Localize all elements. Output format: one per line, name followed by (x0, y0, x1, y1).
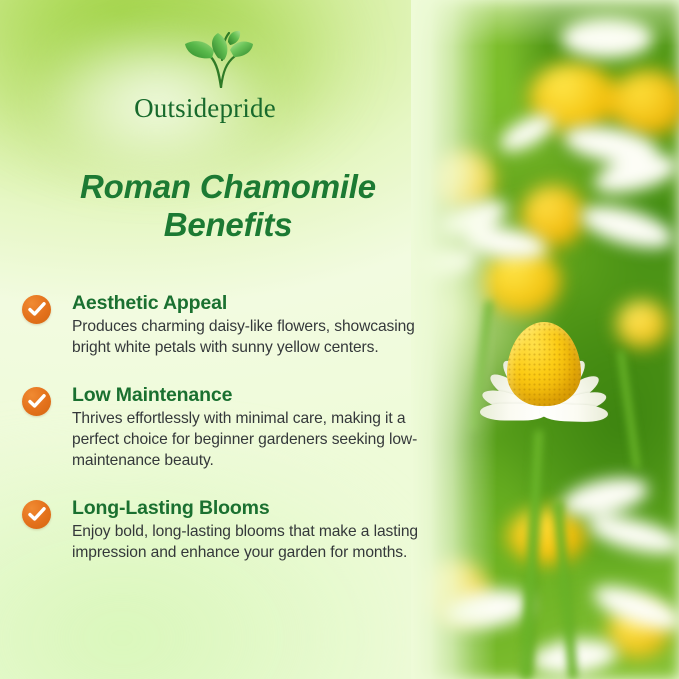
benefit-body: Produces charming daisy-like flowers, sh… (72, 317, 434, 358)
benefit-heading: Long-Lasting Blooms (72, 497, 434, 519)
list-item: Aesthetic Appeal Produces charming daisy… (22, 292, 434, 359)
product-benefits-card: Outsidepride Roman Chamomile Benefits Ae… (0, 0, 679, 679)
leaf-sprout-icon (178, 30, 264, 88)
list-item: Low Maintenance Thrives effortlessly wit… (22, 384, 434, 472)
page-title: Roman Chamomile Benefits (0, 168, 434, 243)
benefit-body: Enjoy bold, long-lasting blooms that mak… (72, 522, 434, 563)
list-item: Long-Lasting Blooms Enjoy bold, long-las… (22, 497, 434, 564)
benefit-heading: Low Maintenance (72, 384, 434, 406)
check-circle-icon (22, 295, 51, 324)
check-circle-icon (22, 500, 51, 529)
brand-name: Outsidepride (110, 95, 300, 122)
benefit-heading: Aesthetic Appeal (72, 292, 434, 314)
benefit-body: Thrives effortlessly with minimal care, … (72, 409, 434, 471)
card-content: Outsidepride Roman Chamomile Benefits Ae… (0, 0, 679, 679)
brand-logo: Outsidepride (110, 30, 300, 122)
benefits-list: Aesthetic Appeal Produces charming daisy… (22, 292, 434, 563)
check-circle-icon (22, 387, 51, 416)
